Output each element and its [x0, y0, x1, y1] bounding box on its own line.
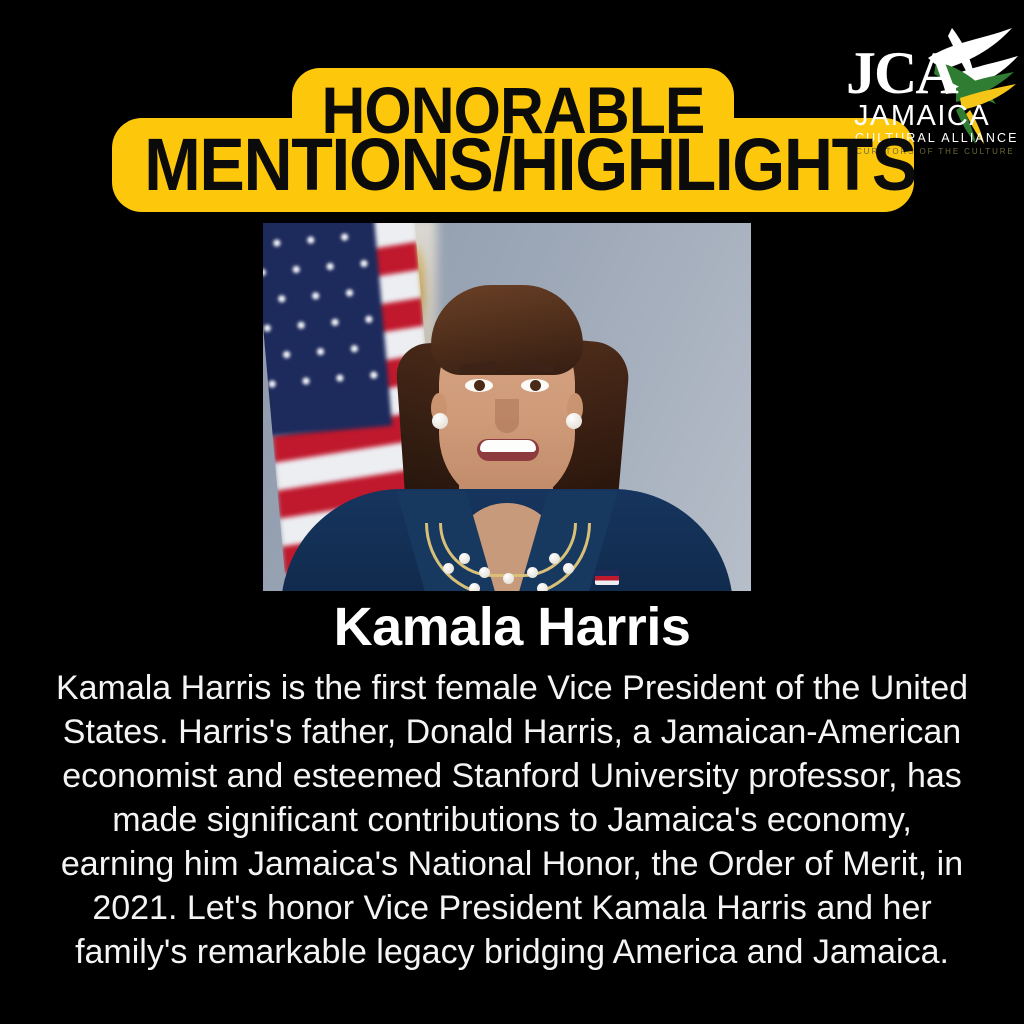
nose [495, 399, 519, 433]
poster-canvas: HONORABLE MENTIONS/HIGHLIGHTS JCA JAMAIC… [0, 0, 1024, 1024]
necklace-pearl [479, 567, 490, 578]
necklace-pearl [459, 553, 470, 564]
necklace-pearl [527, 567, 538, 578]
person-description: Kamala Harris is the first female Vice P… [52, 666, 972, 974]
portrait-photo [263, 223, 751, 591]
flag-lapel-pin-icon [595, 570, 619, 585]
logo-monogram: JCA [846, 44, 966, 102]
iris-left [474, 380, 485, 391]
necklace-pearl [469, 583, 480, 591]
banner-title-line2: MENTIONS/HIGHLIGHTS [144, 122, 882, 208]
mouth [477, 439, 539, 461]
teeth [480, 440, 536, 452]
necklace-pearl [443, 563, 454, 574]
necklace-pearl [503, 573, 514, 584]
person-name: Kamala Harris [0, 596, 1024, 658]
iris-right [530, 380, 541, 391]
necklace-pearl [537, 583, 548, 591]
flag-stars [263, 223, 392, 436]
pearl-earring-right [566, 413, 582, 429]
necklace-pearl [563, 563, 574, 574]
necklace-pearl [549, 553, 560, 564]
hair-top [431, 285, 583, 375]
pearl-earring-left [432, 413, 448, 429]
